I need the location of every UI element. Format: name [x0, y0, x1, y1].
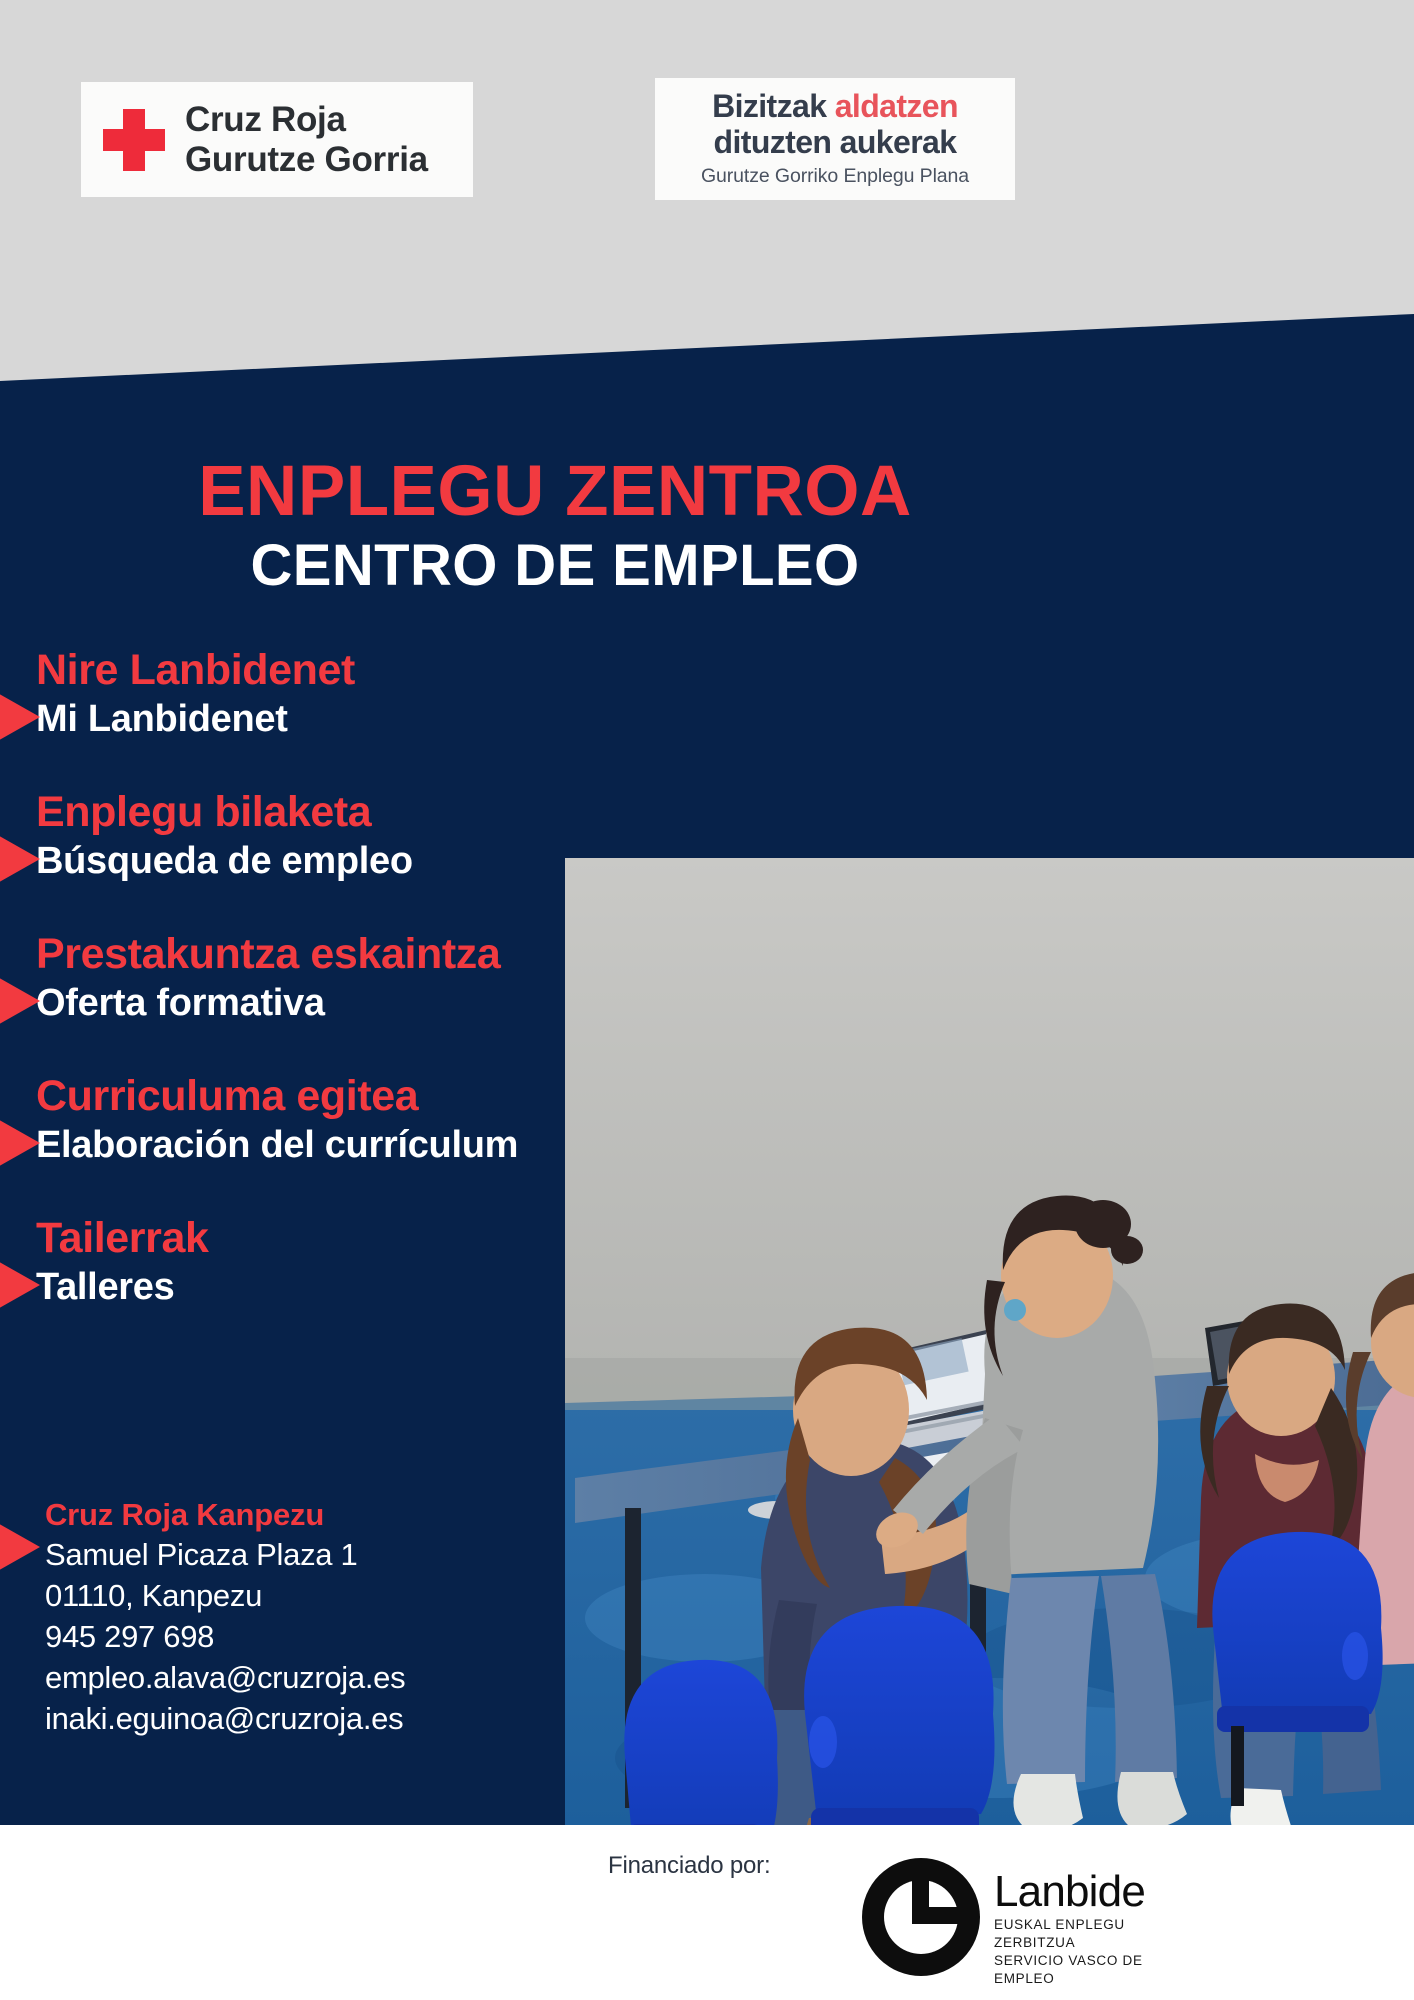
arrow-bullet-icon: [0, 1259, 40, 1311]
arrow-bullet-icon: [0, 1521, 40, 1573]
lanbide-wordmark: Lanbide EUSKAL ENPLEGU ZERBITZUA SERVICI…: [994, 1858, 1162, 1988]
contact-postal-city: 01110, Kanpezu: [45, 1575, 560, 1616]
plan-logo-line1-plain: Bizitzak: [712, 88, 835, 124]
arrow-bullet-icon: [0, 833, 40, 885]
contact-address: Samuel Picaza Plaza 1: [45, 1534, 560, 1575]
contact-email-2[interactable]: inaki.eguinoa@cruzroja.es: [45, 1698, 560, 1739]
lanbide-logo: Lanbide EUSKAL ENPLEGU ZERBITZUA SERVICI…: [862, 1858, 1162, 1983]
lanbide-icon-foot: [912, 1907, 960, 1924]
contact-email-1[interactable]: empleo.alava@cruzroja.es: [45, 1657, 560, 1698]
lanbide-tagline-basque: EUSKAL ENPLEGU ZERBITZUA: [994, 1916, 1162, 1952]
plan-logo-subtitle: Gurutze Gorriko Enplegu Plana: [701, 164, 969, 188]
service-label-spanish: Oferta formativa: [36, 979, 620, 1027]
list-item: Nire Lanbidenet Mi Lanbidenet: [0, 645, 620, 743]
title-basque: ENPLEGU ZENTROA: [0, 455, 1110, 529]
service-label-basque: Enplegu bilaketa: [36, 787, 620, 837]
page-title: ENPLEGU ZENTROA CENTRO DE EMPLEO: [0, 455, 1110, 597]
cruz-roja-line2: Gurutze Gorria: [185, 140, 428, 179]
service-label-spanish: Mi Lanbidenet: [36, 695, 620, 743]
arrow-bullet-icon: [0, 691, 40, 743]
plan-logo-line1-highlight: aldatzen: [835, 88, 958, 124]
contact-block: Cruz Roja Kanpezu Samuel Picaza Plaza 1 …: [0, 1496, 560, 1739]
service-label-basque: Curriculuma egitea: [36, 1071, 620, 1121]
classroom-photo: [565, 858, 1414, 1825]
contact-phone[interactable]: 945 297 698: [45, 1616, 560, 1657]
funded-by-label: Financiado por:: [608, 1852, 770, 1880]
lanbide-clock-icon: [862, 1858, 980, 1976]
cruz-roja-logo: Cruz Roja Gurutze Gorria: [81, 82, 473, 197]
service-label-spanish: Búsqueda de empleo: [36, 837, 620, 885]
arrow-bullet-icon: [0, 975, 40, 1027]
lanbide-name: Lanbide: [994, 1867, 1145, 1916]
service-label-basque: Tailerrak: [36, 1213, 620, 1263]
service-label-basque: Prestakuntza eskaintza: [36, 929, 620, 979]
contact-office-name: Cruz Roja Kanpezu: [45, 1496, 560, 1534]
list-item: Tailerrak Talleres: [0, 1213, 620, 1311]
list-item: Curriculuma egitea Elaboración del currí…: [0, 1071, 620, 1169]
list-item: Prestakuntza eskaintza Oferta formativa: [0, 929, 620, 1027]
cruz-roja-line1: Cruz Roja: [185, 100, 346, 139]
red-cross-icon: [103, 109, 165, 171]
enplegu-plana-logo: Bizitzak aldatzen dituzten aukerak Gurut…: [655, 78, 1015, 200]
lanbide-tagline-spanish: SERVICIO VASCO DE EMPLEO: [994, 1952, 1162, 1988]
service-label-basque: Nire Lanbidenet: [36, 645, 620, 695]
classroom-photo-illustration: [565, 858, 1414, 1825]
arrow-bullet-icon: [0, 1117, 40, 1169]
cruz-roja-logo-text: Cruz Roja Gurutze Gorria: [185, 100, 428, 180]
plan-logo-line1: Bizitzak aldatzen: [712, 88, 958, 124]
title-spanish: CENTRO DE EMPLEO: [0, 535, 1110, 597]
list-item: Enplegu bilaketa Búsqueda de empleo: [0, 787, 620, 885]
service-list: Nire Lanbidenet Mi Lanbidenet Enplegu bi…: [0, 645, 620, 1355]
plan-logo-line2: dituzten aukerak: [714, 124, 957, 160]
service-label-spanish: Talleres: [36, 1263, 620, 1311]
service-label-spanish: Elaboración del currículum: [36, 1121, 620, 1169]
